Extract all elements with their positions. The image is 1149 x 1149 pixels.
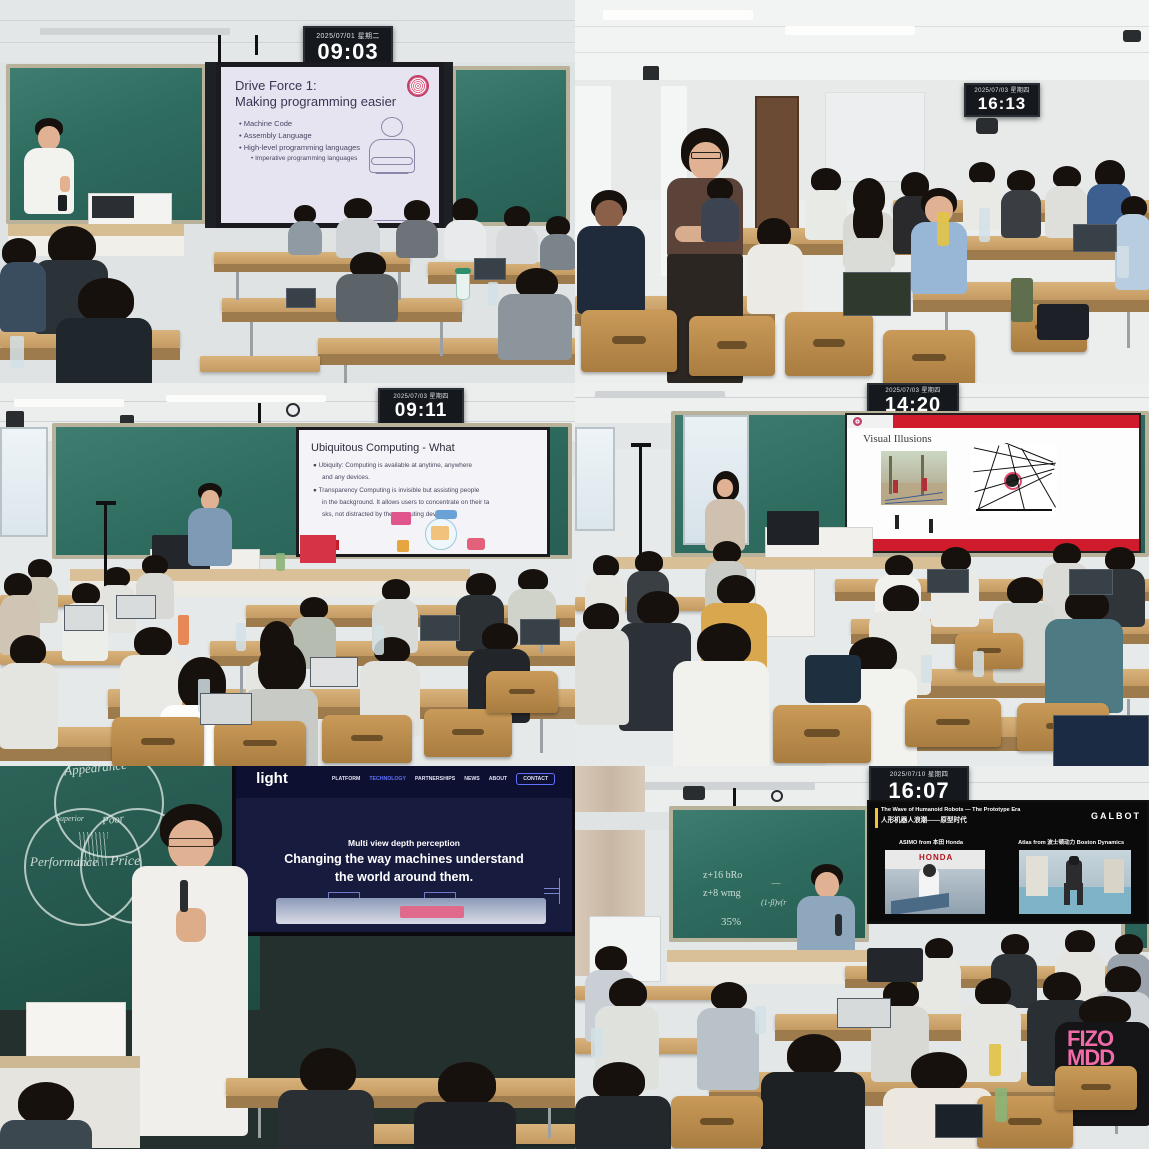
backpack [867,948,923,982]
microphone [835,914,842,936]
student [540,216,575,268]
drink-bottle [937,212,949,246]
student [673,623,769,766]
wall-clock-panel-2: 2025/07/03 星期四 16:13 [964,83,1040,117]
projection-screen-panel-5: light PLATFORM TECHNOLOGY PARTNERSHIPS N… [232,766,575,936]
slide-title-line1: Drive Force 1: [235,78,317,93]
water-bottle [973,651,984,677]
panel-6-humanoid-robots: 2025/07/10 星期四 16:07 z+16 bRo z+8 wmg 35… [575,766,1149,1149]
student [575,1062,671,1149]
chair [883,330,975,383]
slide-bullet: and any devices. [322,474,489,483]
chair [486,671,558,713]
microphone [180,880,188,912]
ceiling-light [785,26,915,35]
water-bottle [10,336,24,368]
drink-cup [456,272,470,300]
chair [214,721,306,766]
slide-title-line2: Making programming easier [235,94,396,109]
nav-news[interactable]: NEWS [464,776,480,782]
student [697,982,759,1086]
laptop [843,272,911,316]
chair [1055,1066,1137,1110]
wall-clock-panel-3: 2025/07/03 星期四 09:11 [378,388,464,426]
laptop [927,569,969,593]
slide-caption-asimo: ASIMO from 本田 Honda [881,838,981,846]
nav-platform[interactable]: PLATFORM [332,776,360,782]
student [288,205,322,253]
slide-bullet: ● Ubiquity: Computing is available at an… [313,462,489,471]
lecturer-panel-3 [188,483,232,565]
pku-seal-icon [853,417,862,426]
nav-partnerships[interactable]: PARTNERSHIPS [415,776,455,782]
presenter-panel-1 [22,118,76,214]
laptop [474,258,506,280]
ceiling-projector [976,118,998,134]
clock-time: 16:07 [888,780,949,802]
chalk-note: z+16 bRo [703,870,742,881]
ceiling-light [166,395,326,402]
chair [955,633,1023,669]
ceiling-projector [683,786,705,800]
diagram-figure [391,510,487,554]
speaker-panel-4 [705,471,745,547]
water-bottle [178,615,189,645]
student [0,635,58,745]
galbot-logo: GALBOT [1091,811,1141,821]
projection-screen-panel-6: The Wave of Humanoid Robots — The Protot… [867,800,1149,924]
water-bottle [755,1006,766,1034]
light-logo: light [256,770,288,787]
ceiling-camera [1123,30,1141,42]
slide-bullet: in the background. It allows users to co… [322,499,489,508]
laptop [310,657,358,687]
wall-poster [300,535,336,563]
laptop [200,693,252,725]
slide-bullet: • Imperative programming languages [251,155,360,162]
panel-4-visual-illusions: 2025/07/03 星期四 14:20 Visual Illusions [575,383,1149,766]
laptop [520,619,560,645]
laptop [1053,715,1149,766]
pku-seal-icon [407,75,429,97]
chalk-note: z+8 wmg [703,888,741,899]
slide-title-zh: 人形机器人浪潮——原型时代 [881,814,1020,824]
clock-time: 16:13 [978,95,1026,112]
water-bottle [488,282,498,306]
clock-time: 09:03 [317,41,378,63]
student [575,603,629,723]
laptop [116,595,156,619]
student [701,178,739,240]
backpack [805,655,861,703]
slide-title: Ubiquitous Computing - What [311,442,455,454]
laptop [420,615,460,641]
projection-screen-panel-4: Visual Illusions [845,413,1141,553]
student [761,1034,865,1149]
water-bottle [979,208,990,242]
student [278,1048,374,1149]
ceiling-rail [595,391,725,398]
laptop [837,998,891,1028]
hand-sanitizer [276,553,285,571]
panel-2-instructor-discussion: 2025/07/03 星期四 16:13 [575,0,1149,383]
student [336,252,398,318]
nav-technology[interactable]: TECHNOLOGY [369,776,406,782]
ceiling-light [603,10,753,20]
laptop [935,1104,983,1138]
chalk-fraction: ⎯⎯ [771,878,780,889]
website-headline-1: Changing the way machines understand [236,852,572,866]
water-bottle [591,1028,603,1058]
panel-1-lecture-programming: 2025/07/01 星期二 09:03 Drive Force 1: Maki… [0,0,575,383]
chair [785,312,873,376]
student [0,1082,92,1149]
chair [322,715,412,763]
nav-about[interactable]: ABOUT [489,776,507,782]
student [1001,170,1041,236]
slide-bullet: • Machine Code [239,119,360,128]
website-eyebrow: Multi view depth perception [236,838,572,848]
chair [671,1096,763,1148]
photo-collage: 2025/07/01 星期二 09:03 Drive Force 1: Maki… [0,0,1149,1149]
water-bottle [921,655,932,683]
laptop [286,288,316,308]
podium-monitor [767,511,819,545]
panel-3-ubiquitous-computing: 2025/07/03 星期四 09:11 Ubiquitous Computin… [0,383,575,766]
slide-bullet: • Assembly Language [239,131,360,140]
window [575,427,615,531]
chair [905,699,1001,747]
drink-bottle [995,1088,1007,1122]
student [498,268,572,358]
student [396,200,438,256]
water-bottle [374,625,384,655]
slide-image-atlas [1019,850,1131,914]
slide-caption-atlas: Atlas from 波士顿动力 Boston Dynamics [1007,838,1135,846]
slide-bullet: • High-level programming languages [239,143,360,152]
student [0,238,46,330]
laptop [1069,569,1113,595]
nav-contact-button[interactable]: CONTACT [516,773,555,785]
clock-date: 2025/07/03 星期四 [885,388,940,394]
slide-title-en: The Wave of Humanoid Robots — The Protot… [881,807,1020,813]
student [336,198,380,256]
chair [581,310,677,372]
illusion-image-street [881,451,947,505]
student [56,278,152,383]
student [1045,589,1123,711]
venn-label-superior: Superior [56,814,84,823]
illusion-image-radial [971,443,1057,515]
laptop [64,605,104,631]
laptop [1073,224,1117,252]
student [747,218,803,310]
slide-title: Visual Illusions [863,433,932,445]
corner-bracket [544,878,560,894]
water-bottle [1117,246,1129,278]
chair [773,705,871,763]
water-bottle [236,623,246,651]
ceiling-light [14,399,124,407]
student [444,198,486,258]
slide-image-asimo: HONDA [885,850,985,914]
window [0,427,48,537]
student [805,168,847,238]
panel-5-light-technology-talk: Appearance Superior Poor Performance Pri… [0,766,575,1149]
clock-time: 09:11 [395,401,448,420]
chair [689,316,775,376]
chalk-note: 35% [721,916,741,928]
student [577,190,645,310]
ceiling-rail [625,782,815,790]
travel-mug [1011,278,1033,322]
ceiling-rail [40,28,230,35]
slide-bullet: ● Transparency Computing is invisible bu… [313,487,489,496]
chair [424,709,512,757]
chalk-formula: (1-β)v(r [761,898,786,907]
chair [112,717,204,766]
website-headline-2: the world around them. [236,870,572,884]
student [496,206,538,262]
website-nav: light PLATFORM TECHNOLOGY PARTNERSHIPS N… [236,766,572,798]
drink-bottle [989,1044,1001,1076]
student [414,1062,516,1149]
